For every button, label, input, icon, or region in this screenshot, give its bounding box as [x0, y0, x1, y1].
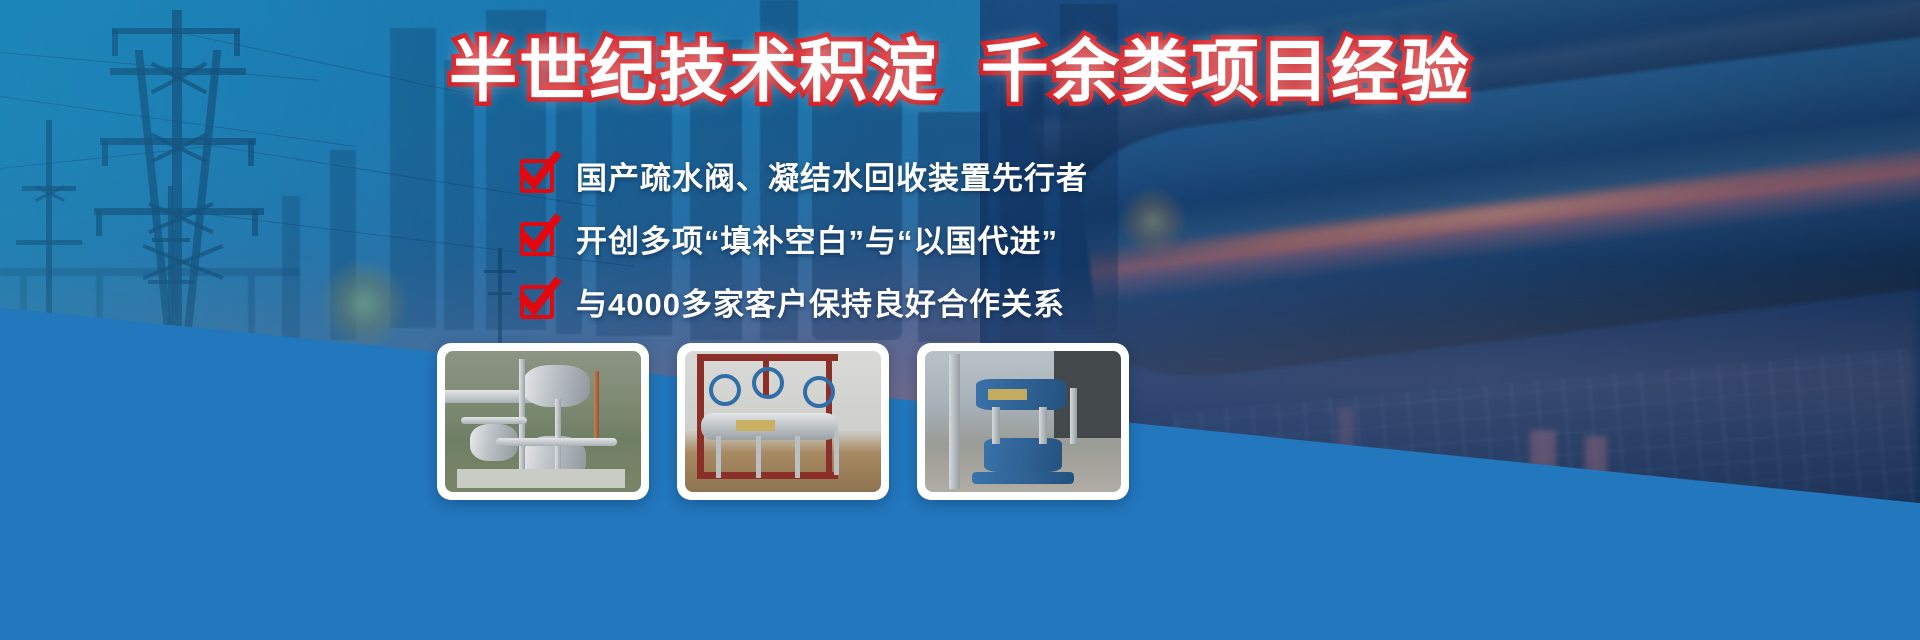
banner-content: 半世纪技术积淀 千余类项目经验 国产疏水阀、凝结水回收装置先行者 开创多项“填补…: [0, 0, 1920, 640]
list-item-label: 与4000多家客户保持良好合作关系: [576, 279, 1065, 324]
feature-list: 国产疏水阀、凝结水回收装置先行者 开创多项“填补空白”与“以国代进” 与4000…: [520, 148, 1140, 337]
list-item: 与4000多家客户保持良好合作关系: [520, 274, 1140, 329]
photo-card-2[interactable]: [677, 343, 889, 500]
product-photo-gallery: [437, 343, 1129, 500]
photo-card-3[interactable]: [917, 343, 1129, 500]
list-item: 国产疏水阀、凝结水回收装置先行者: [520, 148, 1140, 203]
checkbox-checked-icon: [520, 222, 554, 256]
checkbox-checked-icon: [520, 159, 554, 193]
photo-card-1[interactable]: [437, 343, 649, 500]
headline: 半世纪技术积淀 千余类项目经验: [0, 38, 1920, 106]
list-item: 开创多项“填补空白”与“以国代进”: [520, 211, 1140, 266]
product-photo-3: [925, 351, 1121, 492]
list-item-label: 国产疏水阀、凝结水回收装置先行者: [576, 153, 1088, 198]
list-item-label: 开创多项“填补空白”与“以国代进”: [576, 216, 1058, 261]
checkbox-checked-icon: [520, 285, 554, 319]
product-photo-1: [445, 351, 641, 492]
promo-banner: 半世纪技术积淀 千余类项目经验 国产疏水阀、凝结水回收装置先行者 开创多项“填补…: [0, 0, 1920, 640]
product-photo-2: [685, 351, 881, 492]
